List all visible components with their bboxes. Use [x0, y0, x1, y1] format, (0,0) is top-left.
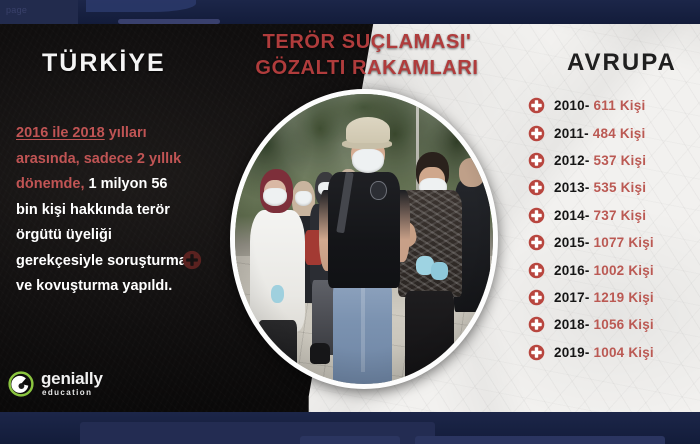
photo-woman-glove — [271, 285, 284, 302]
genially-wordmark: genially education — [41, 370, 103, 397]
row-year: 2019- — [554, 345, 590, 360]
row-year: 2015- — [554, 235, 590, 250]
plus-icon — [528, 125, 545, 142]
app-bottom-band — [0, 412, 700, 444]
genially-name: genially — [41, 369, 103, 388]
row-count: 1077 Kişi — [594, 235, 654, 250]
app-tab-label: page — [6, 5, 27, 15]
infographic-slide: TÜRKİYE AVRUPA TERÖR SUÇLAMASI' GÖZALTI … — [0, 24, 700, 412]
genially-subtitle: education — [42, 389, 103, 397]
band-glow — [86, 0, 196, 12]
row-count: 1002 Kişi — [594, 263, 654, 278]
row-count: 1004 Kişi — [594, 345, 654, 360]
lead-paragraph: 2016 ile 2018 yılları arasında, sadece 2… — [16, 121, 188, 300]
row-year: 2010- — [554, 98, 590, 113]
table-row: 2018- 1056 Kişi — [528, 311, 696, 338]
row-year: 2014- — [554, 208, 590, 223]
lead-highlight: 2016 ile 2018 — [16, 125, 105, 141]
row-year: 2013- — [554, 180, 590, 195]
table-row: 2011- 484 Kişi — [528, 119, 696, 146]
plus-icon — [528, 344, 545, 361]
app-bottom-button-1[interactable] — [300, 436, 400, 444]
plus-accent-icon — [182, 250, 202, 270]
table-row: 2014- 737 Kişi — [528, 202, 696, 229]
table-row: 2010- 611 Kişi — [528, 92, 696, 119]
header-turkiye: TÜRKİYE — [42, 49, 166, 78]
plus-icon — [528, 179, 545, 196]
photo-face-mask-1 — [295, 191, 312, 206]
row-count: 1219 Kişi — [594, 290, 654, 305]
photo-blue-glove-2 — [431, 262, 448, 279]
photo-officer-cap — [346, 117, 390, 143]
photo-woman-legs — [258, 320, 297, 384]
photo-bystander-shoe — [310, 343, 331, 363]
plus-icon — [528, 289, 545, 306]
row-count: 537 Kişi — [594, 153, 647, 168]
photo-far-officer-head — [459, 158, 485, 187]
table-row: 2015- 1077 Kişi — [528, 229, 696, 256]
photo-officer-jeans-seam — [361, 285, 365, 372]
table-row: 2013- 535 Kişi — [528, 174, 696, 201]
table-row: 2016- 1002 Kişi — [528, 256, 696, 283]
plus-icon — [528, 207, 545, 224]
plus-icon — [528, 152, 545, 169]
row-year: 2018- — [554, 317, 590, 332]
row-year: 2017- — [554, 290, 590, 305]
app-top-band: page — [0, 0, 700, 24]
row-count: 484 Kişi — [593, 126, 646, 141]
plus-icon — [528, 316, 545, 333]
page-title: TERÖR SUÇLAMASI' GÖZALTI RAKAMLARI — [222, 29, 512, 82]
row-year: 2016- — [554, 263, 590, 278]
row-count: 737 Kişi — [594, 208, 647, 223]
row-count: 1056 Kişi — [594, 317, 654, 332]
app-bottom-button-2[interactable] — [415, 436, 665, 444]
photo-woman-white-coat — [250, 210, 304, 332]
row-count: 611 Kişi — [594, 98, 646, 113]
table-row: 2017- 1219 Kişi — [528, 284, 696, 311]
row-year: 2012- — [554, 153, 590, 168]
plus-icon — [528, 234, 545, 251]
genially-mark-icon — [8, 371, 34, 397]
year-statistics-list: 2010- 611 Kişi 2011- 484 Kişi — [528, 92, 696, 366]
table-row: 2019- 1004 Kişi — [528, 339, 696, 366]
photo-officer-badge — [370, 181, 386, 200]
row-year: 2011- — [554, 126, 589, 141]
row-count: 535 Kişi — [594, 180, 647, 195]
genially-logo[interactable]: genially education — [8, 370, 103, 397]
plus-icon — [528, 97, 545, 114]
screenshot-root: page TÜRKİYE AVRUPA TERÖR SUÇLAMASI' GÖZ… — [0, 0, 700, 444]
header-avrupa: AVRUPA — [567, 49, 677, 77]
photo-detainee-legs — [405, 291, 454, 384]
table-row: 2012- 537 Kişi — [528, 147, 696, 174]
lead-white-text: 1 milyon 56 bin kişi hakkında terör örgü… — [16, 176, 187, 294]
detainees-photo — [230, 89, 498, 389]
plus-icon — [528, 262, 545, 279]
